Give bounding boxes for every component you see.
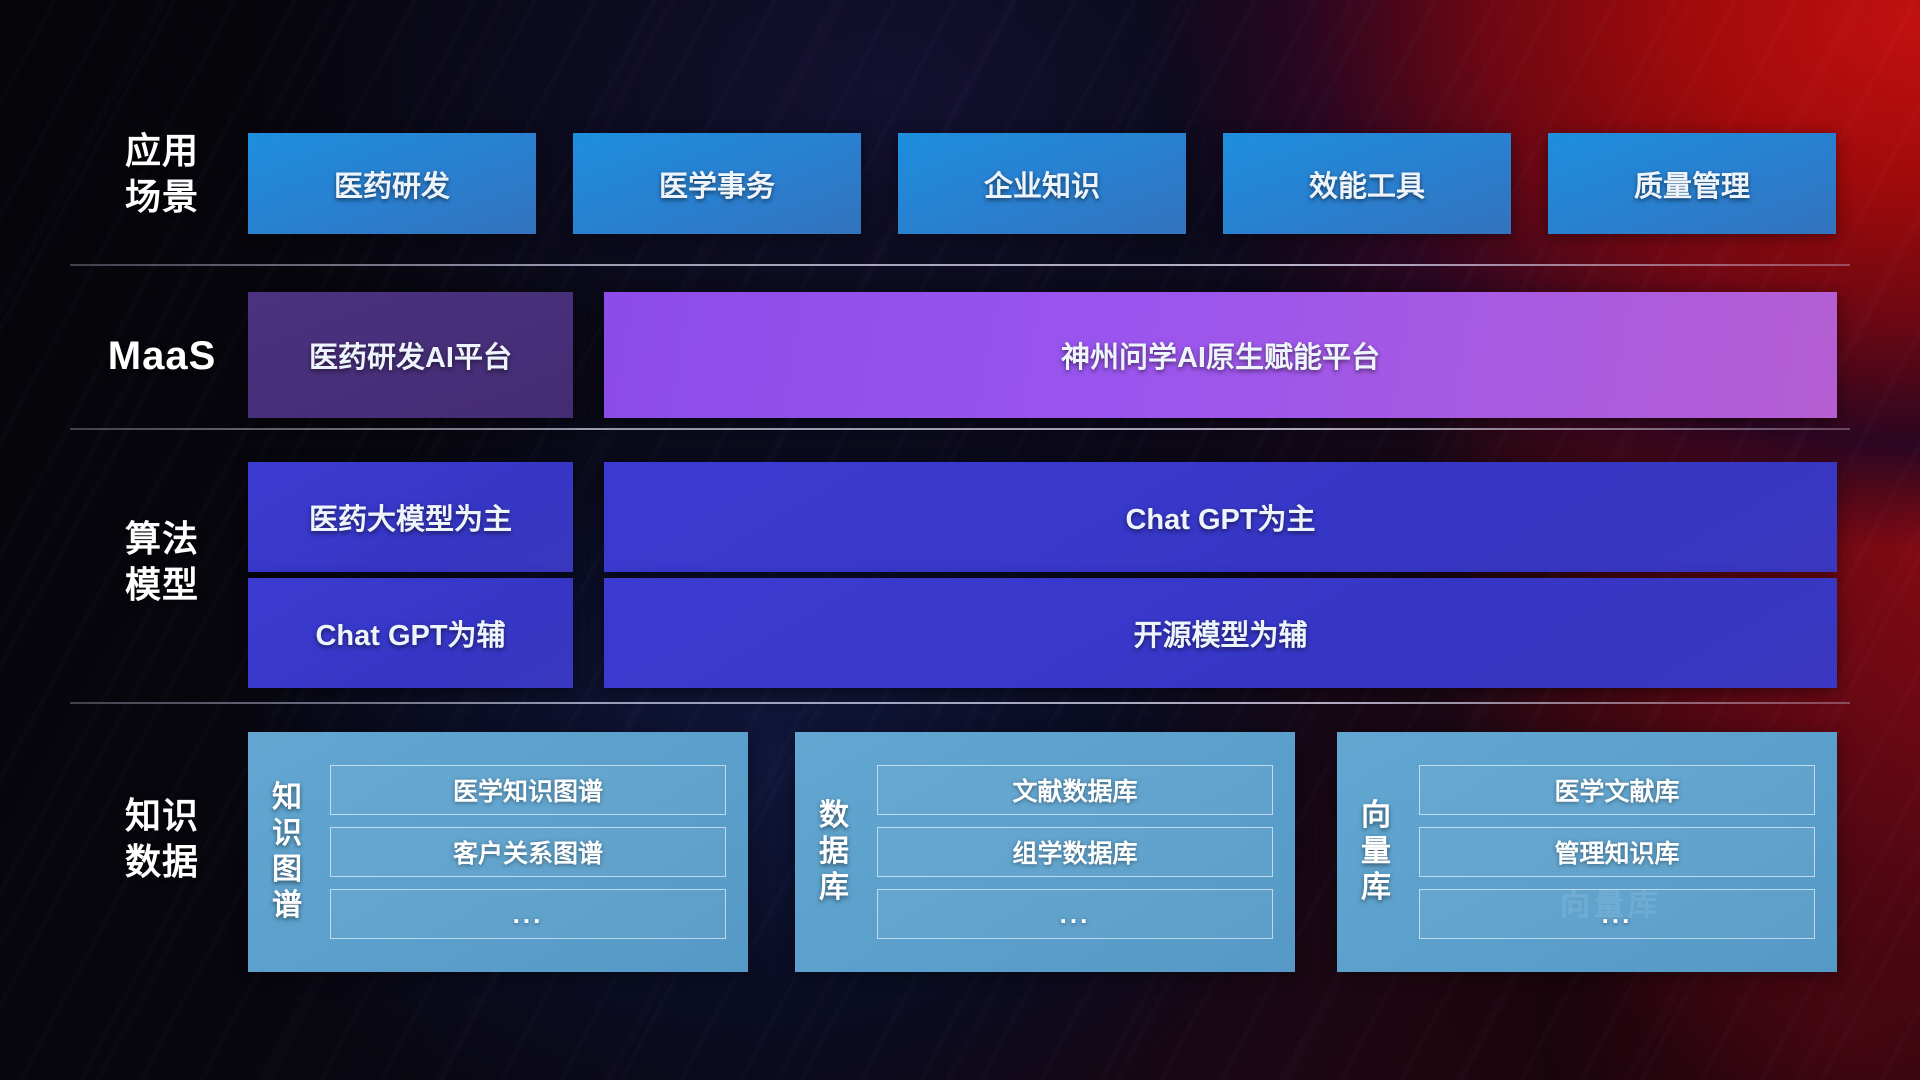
app-box-efficiency-tools-label: 效能工具 bbox=[1309, 163, 1425, 205]
vlabel-char: 库 bbox=[819, 870, 849, 906]
app-box-medical-affairs[interactable]: 医学事务 bbox=[573, 133, 861, 234]
vlabel-char: 知 bbox=[272, 780, 302, 816]
knowledge-group-database-vertical-label: 数 据 库 bbox=[795, 798, 873, 906]
algo-box-opensource-secondary[interactable]: 开源模型为辅 bbox=[604, 578, 1837, 688]
knowledge-group-knowledge-graph-vertical-label: 知 识 图 谱 bbox=[248, 780, 326, 924]
row-label-maas: MaaS bbox=[72, 333, 252, 379]
knowledge-graph-item-list: 医学知识图谱 客户关系图谱 ... bbox=[326, 747, 748, 957]
algo-box-chatgpt-secondary-label: Chat GPT为辅 bbox=[315, 612, 505, 654]
row-label-line-2: 场景 bbox=[72, 174, 252, 220]
vector-store-item-list: 医学文献库 管理知识库 ... bbox=[1415, 747, 1837, 957]
row-label-algorithm-model: 算法 模型 bbox=[72, 516, 252, 608]
vlabel-char: 谱 bbox=[272, 888, 302, 924]
algo-box-opensource-secondary-label: 开源模型为辅 bbox=[1133, 612, 1307, 654]
knowledge-group-vector-store-vertical-label: 向 量 库 bbox=[1337, 798, 1415, 906]
app-box-enterprise-knowledge-label: 企业知识 bbox=[984, 163, 1100, 205]
row-label-model: 模型 bbox=[72, 562, 252, 608]
row-label-line-1: 应用 bbox=[72, 128, 252, 174]
app-box-medical-affairs-label: 医学事务 bbox=[659, 163, 775, 205]
app-box-quality-management[interactable]: 质量管理 bbox=[1548, 133, 1836, 234]
divider-line-1 bbox=[70, 264, 1850, 266]
algo-box-pharma-llm-primary-label: 医药大模型为主 bbox=[309, 496, 512, 538]
watermark-text: 向量库 bbox=[1560, 880, 1662, 924]
divider-line-2 bbox=[70, 428, 1850, 430]
app-box-efficiency-tools[interactable]: 效能工具 bbox=[1223, 133, 1511, 234]
database-item-more[interactable]: ... bbox=[877, 889, 1273, 939]
row-label-maas-text: MaaS bbox=[72, 333, 252, 379]
vlabel-char: 量 bbox=[1361, 834, 1391, 870]
knowledge-group-knowledge-graph[interactable]: 知 识 图 谱 医学知识图谱 客户关系图谱 ... bbox=[248, 732, 748, 972]
knowledge-group-database[interactable]: 数 据 库 文献数据库 组学数据库 ... bbox=[795, 732, 1295, 972]
algo-box-chatgpt-primary-label: Chat GPT为主 bbox=[1125, 496, 1315, 538]
knowledge-graph-item[interactable]: 客户关系图谱 bbox=[330, 827, 726, 877]
app-box-quality-management-label: 质量管理 bbox=[1634, 163, 1750, 205]
database-item[interactable]: 组学数据库 bbox=[877, 827, 1273, 877]
vlabel-char: 向 bbox=[1361, 798, 1391, 834]
algo-box-chatgpt-secondary[interactable]: Chat GPT为辅 bbox=[248, 578, 573, 688]
row-label-knowledge-data: 知识 数据 bbox=[72, 793, 252, 885]
app-box-enterprise-knowledge[interactable]: 企业知识 bbox=[898, 133, 1186, 234]
vlabel-char: 识 bbox=[272, 816, 302, 852]
maas-box-shenzhou-ai-platform[interactable]: 神州问学AI原生赋能平台 bbox=[604, 292, 1837, 418]
maas-box-pharma-ai-platform-label: 医药研发AI平台 bbox=[309, 334, 512, 376]
knowledge-graph-item-more[interactable]: ... bbox=[330, 889, 726, 939]
vlabel-char: 据 bbox=[819, 834, 849, 870]
maas-box-pharma-ai-platform[interactable]: 医药研发AI平台 bbox=[248, 292, 573, 418]
algo-box-pharma-llm-primary[interactable]: 医药大模型为主 bbox=[248, 462, 573, 572]
vlabel-char: 数 bbox=[819, 798, 849, 834]
architecture-diagram-canvas: 应用 场景 医药研发 医学事务 企业知识 效能工具 质量管理 MaaS 医药研发… bbox=[0, 0, 1920, 1080]
knowledge-group-vector-store[interactable]: 向 量 库 医学文献库 管理知识库 ... bbox=[1337, 732, 1837, 972]
row-label-algorithm: 算法 bbox=[72, 516, 252, 562]
row-label-knowledge: 知识 bbox=[72, 793, 252, 839]
divider-line-3 bbox=[70, 702, 1850, 704]
maas-box-shenzhou-ai-platform-label: 神州问学AI原生赋能平台 bbox=[1061, 334, 1380, 376]
row-label-data: 数据 bbox=[72, 839, 252, 885]
vector-store-item[interactable]: 管理知识库 bbox=[1419, 827, 1815, 877]
vector-store-item[interactable]: 医学文献库 bbox=[1419, 765, 1815, 815]
app-box-pharma-rd[interactable]: 医药研发 bbox=[248, 133, 536, 234]
vlabel-char: 图 bbox=[272, 852, 302, 888]
row-label-application-scenarios: 应用 场景 bbox=[72, 128, 252, 220]
app-box-pharma-rd-label: 医药研发 bbox=[334, 163, 450, 205]
database-item-list: 文献数据库 组学数据库 ... bbox=[873, 747, 1295, 957]
knowledge-graph-item[interactable]: 医学知识图谱 bbox=[330, 765, 726, 815]
vlabel-char: 库 bbox=[1361, 870, 1391, 906]
algo-box-chatgpt-primary[interactable]: Chat GPT为主 bbox=[604, 462, 1837, 572]
database-item[interactable]: 文献数据库 bbox=[877, 765, 1273, 815]
